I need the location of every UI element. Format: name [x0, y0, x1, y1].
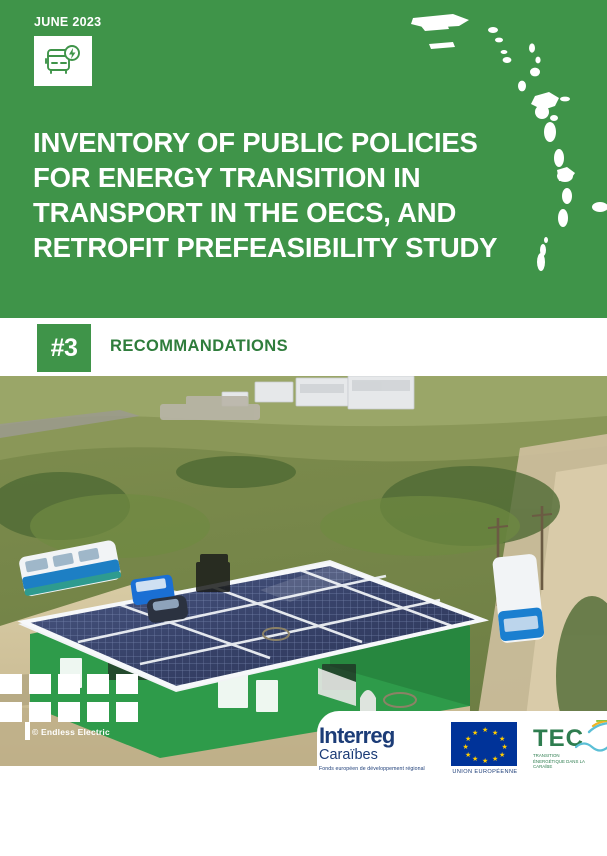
- title-line-2: FOR ENERGY TRANSITION IN: [33, 161, 503, 196]
- interreg-tagline: Fonds européen de développement régional: [319, 766, 437, 772]
- electric-bus-glyph: [43, 43, 83, 79]
- photo-credit: © Endless Electric: [32, 727, 110, 737]
- grid-square: [87, 702, 109, 722]
- tec-name: TEC: [533, 727, 605, 751]
- eu-caption: UNION EUROPÉENNE: [451, 769, 519, 775]
- publication-date: JUNE 2023: [34, 15, 101, 29]
- tec-wave-icon: [575, 739, 607, 753]
- section-title: RECOMMANDATIONS: [110, 337, 288, 356]
- funding-partner-panel: Interreg Caraïbes Fonds européen de déve…: [317, 711, 607, 786]
- credit-accent-bar: [25, 722, 30, 740]
- interreg-name: Interreg: [319, 725, 437, 747]
- title-line-1: INVENTORY OF PUBLIC POLICIES: [33, 126, 503, 161]
- grid-square: [116, 702, 138, 722]
- interreg-logo: Interreg Caraïbes Fonds européen de déve…: [319, 725, 437, 772]
- title-line-3: TRANSPORT IN THE OECS, AND: [33, 196, 503, 231]
- grid-square: [58, 702, 80, 722]
- interreg-region: Caraïbes: [319, 748, 437, 764]
- grid-square: [29, 702, 51, 722]
- grid-square: [87, 674, 109, 694]
- grid-square: [0, 702, 22, 722]
- footer-logo-strip: [0, 786, 607, 856]
- tec-logo: TEC TRANSITION ÉNERGÉTIQUE DANS LA CARAÏ…: [533, 727, 605, 770]
- grid-square: [29, 674, 51, 694]
- decorative-square-grid: [0, 674, 138, 722]
- tec-swoosh-icon: [559, 720, 607, 736]
- page-title: INVENTORY OF PUBLIC POLICIES FOR ENERGY …: [33, 126, 503, 266]
- electric-bus-icon: [34, 36, 92, 86]
- grid-square: [116, 674, 138, 694]
- eu-flag-icon: ★ ★ ★ ★ ★ ★ ★ ★ ★ ★ ★ ★: [451, 722, 517, 766]
- title-line-4: RETROFIT PREFEASIBILITY STUDY: [33, 231, 503, 266]
- grid-square: [58, 674, 80, 694]
- section-number-badge: #3: [33, 320, 95, 376]
- tec-tagline-line-2: ÉNERGÉTIQUE DANS LA CARAÏBE: [533, 759, 605, 770]
- european-union-logo: ★ ★ ★ ★ ★ ★ ★ ★ ★ ★ ★ ★ UNION EUROPÉENNE: [451, 722, 519, 775]
- grid-square: [0, 674, 22, 694]
- tec-tagline: TRANSITION ÉNERGÉTIQUE DANS LA CARAÏBE: [533, 753, 605, 770]
- cover-page: JUNE 2023 INVENTORY OF PUBLIC POLICIES F…: [0, 0, 607, 856]
